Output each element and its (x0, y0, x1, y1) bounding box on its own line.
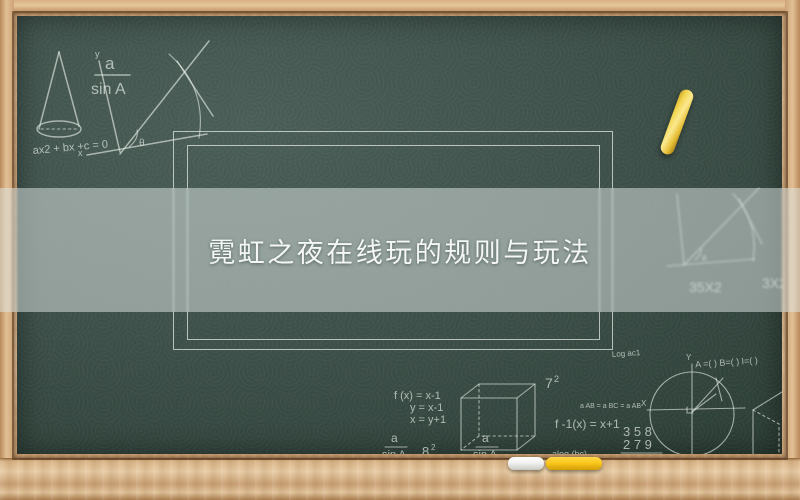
yellow-chalk-on-ledge (546, 457, 602, 470)
svg-text:a: a (391, 431, 398, 445)
svg-text:f (x) = x-1: f (x) = x-1 (394, 390, 441, 402)
fraction-a-sin-a-lower-mid: a sin A (473, 431, 498, 454)
circle-diagram: Y X (641, 353, 745, 454)
svg-text:θ: θ (139, 138, 145, 149)
svg-text:y = x-1: y = x-1 (410, 402, 443, 414)
seven-squared: 7 (545, 375, 553, 391)
svg-text:x = y+1: x = y+1 (410, 414, 446, 426)
svg-text:X: X (641, 399, 647, 408)
chalkboard-title-card: a sin A y x θ ax2 + bx +c = (0, 0, 800, 500)
log-label: Log ac1 (612, 348, 642, 359)
function-equations: f (x) = x-1 y = x-1 x = y+1 (394, 390, 446, 426)
svg-text:a: a (482, 431, 489, 445)
svg-text:sin A: sin A (382, 449, 407, 454)
fraction-a-sin-a-lower-left: a sin A (382, 431, 407, 454)
log-expression: alog (bc) (552, 449, 587, 454)
white-chalk-on-ledge (508, 457, 544, 470)
svg-text:y: y (95, 49, 100, 59)
svg-text:6 3 7: 6 3 7 (623, 452, 652, 454)
page-title: 霓虹之夜在线玩的规则与玩法 (0, 188, 800, 312)
cube-right (753, 392, 782, 454)
inverse-function: f -1(x) = x+1 (555, 417, 620, 431)
svg-text:2: 2 (554, 374, 559, 384)
cube-left (461, 384, 535, 450)
matrix-notation: A =( ) B=( ) I=( ) (695, 355, 758, 369)
svg-text:sin A: sin A (91, 81, 126, 98)
cube-edge-note: a AB = a BC = a AB (580, 403, 641, 410)
svg-text:Y: Y (686, 353, 692, 362)
svg-text:2: 2 (431, 443, 436, 452)
svg-text:sin A: sin A (473, 449, 498, 454)
fraction-a-sin-a-top: a sin A (91, 54, 130, 98)
digit-column: 3 5 8 2 7 9 6 3 7 (621, 424, 662, 454)
svg-text:2 7 9: 2 7 9 (623, 437, 652, 452)
quadratic-equation: ax2 + bx +c = 0 (32, 138, 108, 157)
svg-text:a: a (105, 54, 115, 73)
eight-squared: 8 (422, 444, 429, 454)
svg-text:A =( ) B=( ) I=( ): A =( ) B=( ) I=( ) (695, 355, 758, 369)
cone-drawing (37, 52, 81, 137)
